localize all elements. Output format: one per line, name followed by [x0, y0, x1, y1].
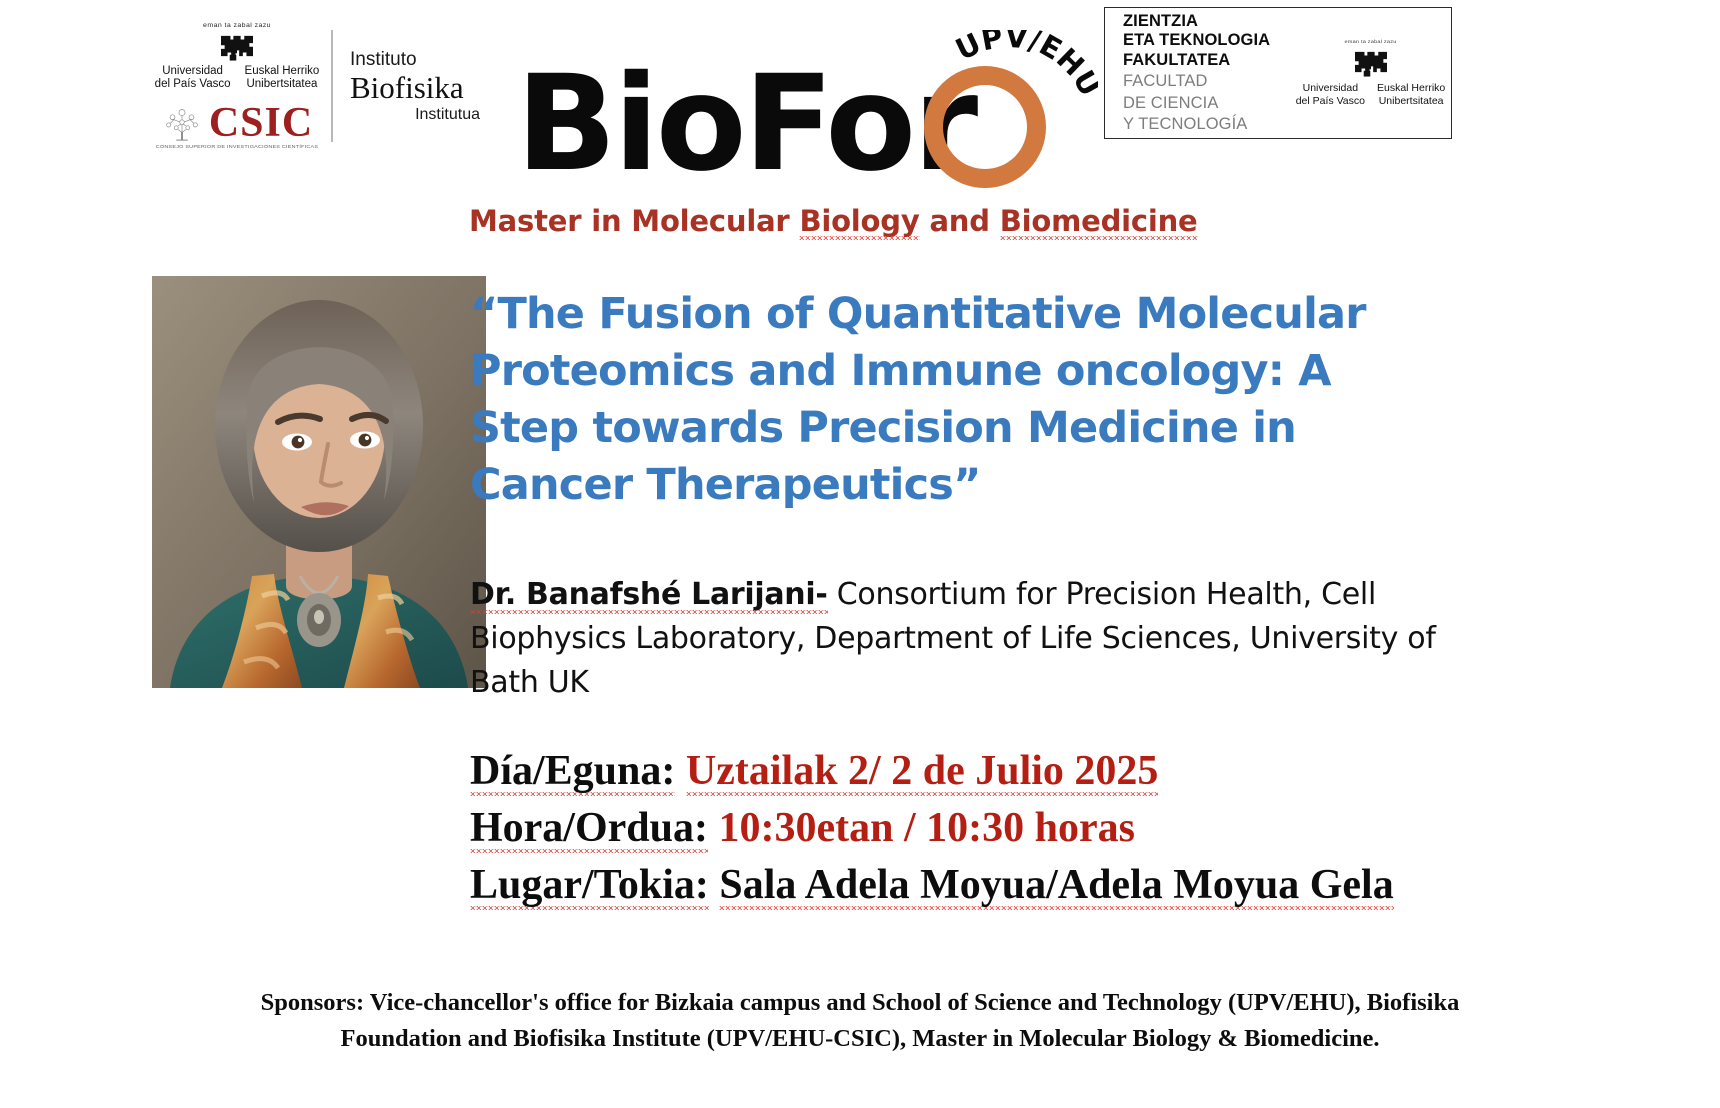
- speaker-line: Dr. Banafshé Larijani- Consortium for Pr…: [470, 573, 1470, 705]
- ehu-motto-text: eman ta zabal zazu: [203, 23, 271, 29]
- event-details: Día/Eguna: Uztailak 2/ 2 de Julio 2025 H…: [470, 743, 1570, 914]
- csic-subtitle: CONSEJO SUPERIOR DE INVESTIGACIONES CIEN…: [156, 144, 318, 149]
- master-text-before: Master in Molecular: [469, 204, 799, 238]
- faculty-lauburu-icon: [1349, 46, 1393, 78]
- talk-title: “The Fusion of Quantitative Molecular Pr…: [470, 286, 1370, 514]
- faculty-uni-es: Universidad del País Vasco: [1296, 82, 1365, 107]
- upv-ehu-csic-logo-group: eman ta zabal zazu Universidad del País …: [152, 22, 322, 150]
- logo-band: eman ta zabal zazu Universidad del País …: [0, 0, 1720, 200]
- sponsors-footer: Sponsors: Vice-chancellor's office for B…: [130, 985, 1590, 1057]
- master-text-biology: Biology: [799, 204, 919, 240]
- master-text-mid: and: [920, 204, 1000, 238]
- detail-row-place: Lugar/Tokia: Sala Adela Moyua/Adela Moyu…: [470, 857, 1570, 914]
- biofisika-line-name: Biofisika: [350, 71, 480, 105]
- detail-label-time: Hora/Ordua:: [470, 805, 708, 853]
- bioforo-curved-upvehu-text: UPV/EHU: [908, 30, 1098, 220]
- speaker-portrait-photo: [152, 276, 486, 688]
- biofisika-line-instituto: Instituto: [350, 48, 480, 71]
- faculty-es-line2: DE CIENCIA: [1123, 94, 1290, 114]
- svg-text:UPV/EHU: UPV/EHU: [950, 30, 1098, 102]
- biofisika-line-institutua: Institutua: [350, 105, 480, 125]
- faculty-ehu-names: Universidad del País Vasco Euskal Herrik…: [1296, 82, 1446, 107]
- faculty-ehu-logo: eman ta zabal zazu Universidad del País …: [1290, 39, 1451, 107]
- csic-wordmark: CSIC: [209, 103, 313, 143]
- master-programme-heading: Master in Molecular Biology and Biomedic…: [469, 204, 1198, 238]
- faculty-eu-line2: ETA TEKNOLOGIA: [1123, 31, 1290, 51]
- speaker-name: Dr. Banafshé Larijani-: [470, 577, 828, 614]
- faculty-es-line3: Y TECNOLOGÍA: [1123, 115, 1290, 135]
- faculty-uni-eu: Euskal Herriko Unibertsitatea: [1377, 82, 1445, 107]
- detail-row-day: Día/Eguna: Uztailak 2/ 2 de Julio 2025: [470, 743, 1570, 800]
- detail-value-time: 10:30etan / 10:30 horas: [719, 805, 1135, 851]
- poster-canvas: eman ta zabal zazu Universidad del País …: [0, 0, 1720, 1108]
- logo-divider: [331, 30, 333, 142]
- detail-label-day: Día/Eguna:: [470, 748, 675, 796]
- faculty-eu-line1: ZIENTZIA: [1123, 12, 1290, 32]
- master-text-biomedicine: Biomedicine: [1000, 204, 1198, 240]
- faculty-name-block: ZIENTZIA ETA TEKNOLOGIA FAKULTATEA FACUL…: [1105, 12, 1290, 135]
- ehu-lauburu-icon: [209, 30, 265, 62]
- sponsors-line-2: Foundation and Biofisika Institute (UPV/…: [130, 1021, 1590, 1057]
- csic-wordmark-block: CSIC: [209, 103, 313, 143]
- sponsors-line-1: Sponsors: Vice-chancellor's office for B…: [130, 985, 1590, 1021]
- bioforo-logo: BioFor UPV/EHU: [516, 30, 1096, 200]
- detail-value-day: Uztailak 2/ 2 de Julio 2025: [686, 748, 1159, 796]
- faculty-es-line1: FACULTAD: [1123, 72, 1290, 92]
- csic-tree-icon: [161, 104, 203, 142]
- csic-logo: CSIC: [161, 103, 313, 143]
- faculty-ehu-motto: eman ta zabal zazu: [1344, 39, 1396, 44]
- bioforo-wordmark-text: BioFor: [516, 58, 975, 190]
- detail-label-place: Lugar/Tokia:: [470, 862, 709, 910]
- detail-value-place: Sala Adela Moyua/Adela Moyua Gela: [719, 862, 1393, 910]
- biofisika-institute-logo: Instituto Biofisika Institutua: [350, 48, 480, 125]
- faculty-logo-box: ZIENTZIA ETA TEKNOLOGIA FAKULTATEA FACUL…: [1104, 7, 1452, 139]
- ehu-name-block: Universidad del País Vasco Euskal Herrik…: [155, 65, 320, 91]
- ehu-name-eu: Euskal Herriko Unibertsitatea: [245, 65, 320, 91]
- ehu-name-es: Universidad del País Vasco: [155, 65, 231, 91]
- faculty-eu-line3: FAKULTATEA: [1123, 51, 1290, 71]
- detail-row-time: Hora/Ordua: 10:30etan / 10:30 horas: [470, 800, 1570, 857]
